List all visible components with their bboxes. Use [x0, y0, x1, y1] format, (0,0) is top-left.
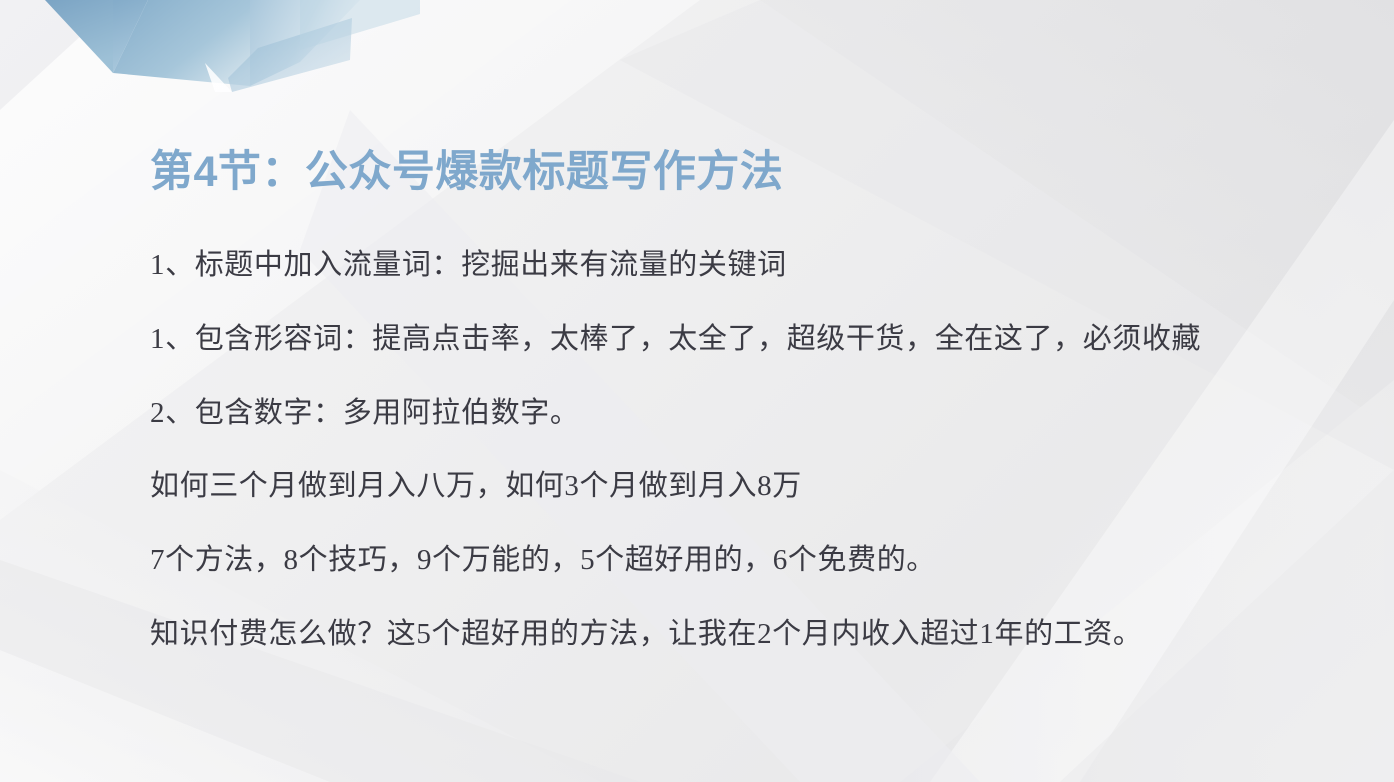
body-line-2: 1、包含形容词：提高点击率，太棒了，太全了，超级干货，全在这了，必须收藏 — [150, 322, 1330, 357]
body-text-block: 1、标题中加入流量词：挖掘出来有流量的关键词 1、包含形容词：提高点击率，太棒了… — [150, 248, 1330, 652]
body-line-6: 知识付费怎么做？这5个超好用的方法，让我在2个月内收入超过1年的工资。 — [150, 617, 1330, 652]
body-line-5: 7个方法，8个技巧，9个万能的，5个超好用的，6个免费的。 — [150, 543, 1330, 578]
slide-content: 第4节：公众号爆款标题写作方法 1、标题中加入流量词：挖掘出来有流量的关键词 1… — [0, 0, 1394, 782]
body-line-4: 如何三个月做到月入八万，如何3个月做到月入8万 — [150, 469, 1330, 504]
slide-canvas: 第4节：公众号爆款标题写作方法 1、标题中加入流量词：挖掘出来有流量的关键词 1… — [0, 0, 1394, 782]
body-line-1: 1、标题中加入流量词：挖掘出来有流量的关键词 — [150, 248, 1330, 283]
body-line-3: 2、包含数字：多用阿拉伯数字。 — [150, 396, 1330, 431]
page-title: 第4节：公众号爆款标题写作方法 — [150, 148, 783, 197]
